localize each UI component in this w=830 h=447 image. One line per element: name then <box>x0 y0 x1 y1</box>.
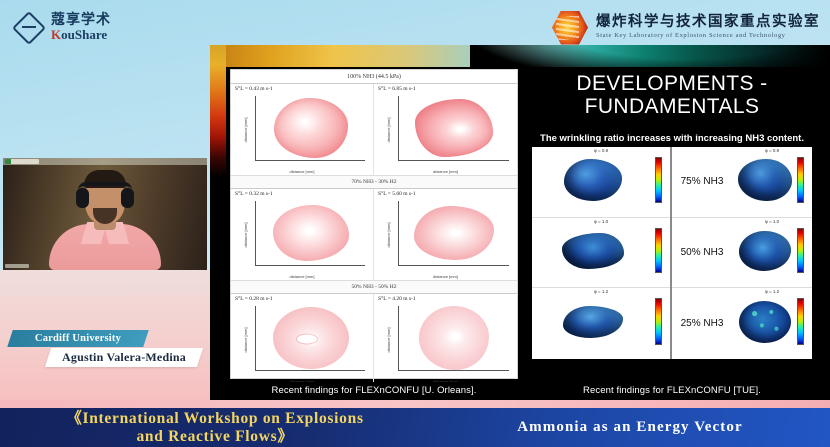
pink-divider-line <box>0 400 830 408</box>
plot-y-label: distance [mm] <box>243 222 248 247</box>
video-status-badge-icon <box>5 264 29 268</box>
explosion-lab-english-name: State Key Laboratory of Explosion Scienc… <box>596 32 820 39</box>
surface-plot: φ = 1.0 <box>732 218 812 288</box>
explosion-lab-brand: 爆炸科学与技术国家重点实验室 State Key Laboratory of E… <box>552 11 820 45</box>
event-title: 《International Workshop on Explosions an… <box>0 410 430 446</box>
left-panel-header: 100% NH3 (44.5 kPa) <box>231 70 517 84</box>
koushare-brand-text: 蔻享学术 KouShare <box>51 13 111 41</box>
presentation-slide[interactable]: 100% NH3 (44.5 kPa) S°L = 0.43 m s-1 dis… <box>210 45 830 400</box>
flame-plot-cell: S°L = 0.43 m s-1 distance [mm] distance … <box>231 84 374 175</box>
presenter-name-card: Cardiff University Agustin Valera-Medina <box>0 270 210 400</box>
grid-cell: φ = 1.0 <box>532 218 670 289</box>
plot-axes <box>746 296 786 347</box>
row-label-50-nh3: 50% NH3 <box>672 247 732 258</box>
plot-y-label: distance [mm] <box>243 117 248 142</box>
plot-axes <box>255 306 365 371</box>
plot-y-label: distance [mm] <box>243 327 248 352</box>
flame-surface-blob <box>415 99 493 157</box>
flame-surface-blob <box>273 205 349 261</box>
left-panel-divider-label: 50% NH3 - 50% H2 <box>231 281 517 294</box>
plot-axes <box>546 155 644 205</box>
surface-plot: φ = 0.9 <box>732 147 812 217</box>
presenter-video-feed[interactable] <box>3 158 207 270</box>
plot-y-label: distance [mm] <box>386 327 391 352</box>
plot-axes <box>398 201 509 266</box>
equivalence-ratio-label: φ = 1.0 <box>732 219 812 224</box>
surface-plot: φ = 1.2 <box>732 288 812 359</box>
left-panel-row: S°L = 0.28 m s-1 distance [mm] distance … <box>231 294 517 386</box>
koushare-english-name: KouShare <box>51 28 111 42</box>
colorbar <box>797 157 804 203</box>
presenter-affiliation-band: Cardiff University <box>7 330 149 347</box>
video-toolbar-badge-icon <box>5 159 39 164</box>
right-results-panel: DEVELOPMENTS - FUNDAMENTALS The wrinklin… <box>524 69 820 379</box>
flame-surface-3d <box>739 231 791 271</box>
plot-x-label: distance [mm] <box>374 169 517 174</box>
flame-plot-cell: S°L = 0.28 m s-1 distance [mm] distance … <box>231 294 374 385</box>
koushare-brand[interactable]: 蔻享学术 KouShare <box>14 13 111 43</box>
presenter-name: Agustin Valera-Medina <box>48 348 200 367</box>
slide-decorative-top-band <box>210 45 830 67</box>
equivalence-ratio-label: φ = 0.9 <box>532 148 670 153</box>
flame-surface-3d <box>564 159 622 201</box>
slide-title-line1: DEVELOPMENTS - <box>524 73 820 96</box>
equivalence-ratio-label: φ = 1.2 <box>732 289 812 294</box>
grid-right-column: 75% NH3 φ = 0.9 50% NH3 φ = 1.0 <box>672 147 812 359</box>
explosion-lab-hexagon-icon <box>552 11 588 45</box>
headphone-right-icon <box>121 188 134 208</box>
plot-axes <box>746 226 786 276</box>
presenter-affiliation: Cardiff University <box>10 330 146 347</box>
equivalence-ratio-label: φ = 1.2 <box>532 289 670 294</box>
grid-cell: φ = 0.9 <box>532 147 670 218</box>
explosion-lab-chinese-name: 爆炸科学与技术国家重点实验室 <box>596 15 820 31</box>
right-panel-caption: Recent findings for FLEXnCONFU [TUE]. <box>524 382 820 399</box>
grid-cell: 25% NH3 φ = 1.2 <box>672 288 812 359</box>
flame-plot-label: S°L = 0.32 m s-1 <box>235 191 273 197</box>
plot-axes <box>255 96 365 161</box>
plot-y-label: distance [mm] <box>386 117 391 142</box>
presenter-panel: Cardiff University Agustin Valera-Medina <box>0 158 210 400</box>
flame-surface-3d <box>563 306 623 338</box>
flame-surface-blob <box>419 306 489 370</box>
plot-x-label: distance [mm] <box>231 274 373 279</box>
flame-surface-3d <box>738 159 792 201</box>
flame-plot-cell: S°L = 6.85 m s-1 distance [mm] distance … <box>374 84 517 175</box>
presenter-figure <box>46 172 164 270</box>
equivalence-ratio-label: φ = 0.9 <box>732 148 812 153</box>
colorbar <box>655 157 662 203</box>
plot-x-label: distance [mm] <box>231 169 373 174</box>
equivalence-ratio-label: φ = 1.0 <box>532 219 670 224</box>
plot-axes <box>546 226 644 276</box>
colorbar <box>797 298 804 345</box>
headphone-left-icon <box>76 188 89 208</box>
flame-plot-label: S°L = 6.85 m s-1 <box>378 86 416 92</box>
grid-cell: 50% NH3 φ = 1.0 <box>672 218 812 289</box>
explosion-lab-brand-text: 爆炸科学与技术国家重点实验室 State Key Laboratory of E… <box>596 15 820 39</box>
plot-axes <box>746 155 786 205</box>
surface-plot: φ = 1.0 <box>532 218 670 288</box>
plot-axes <box>398 96 509 161</box>
slide-title-line2: FUNDAMENTALS <box>524 96 820 119</box>
grid-cell: φ = 1.2 <box>532 288 670 359</box>
plot-axes <box>398 306 509 371</box>
bottom-banner: 《International Workshop on Explosions an… <box>0 408 830 447</box>
plot-x-label: distance [mm] <box>374 274 517 279</box>
left-panel-divider-label: 70% NH3 - 30% H2 <box>231 176 517 189</box>
flame-plot-label: S°L = 4.20 m s-1 <box>378 296 416 302</box>
flame-plot-label: S°L = 5.60 m s-1 <box>378 191 416 197</box>
left-panel-row: S°L = 0.43 m s-1 distance [mm] distance … <box>231 84 517 176</box>
flame-plot-cell: S°L = 0.32 m s-1 distance [mm] distance … <box>231 189 374 280</box>
presenter-name-band: Agustin Valera-Medina <box>45 348 203 367</box>
flame-surface-blob <box>273 307 349 369</box>
flame-plot-label: S°L = 0.28 m s-1 <box>235 296 273 302</box>
row-label-25-nh3: 25% NH3 <box>672 318 732 329</box>
surface-plot: φ = 1.2 <box>532 288 670 359</box>
flame-plot-cell: S°L = 5.60 m s-1 distance [mm] distance … <box>374 189 517 280</box>
koushare-initial: K <box>51 27 61 42</box>
koushare-diamond-icon <box>14 13 44 43</box>
plot-axes <box>546 296 644 347</box>
surface-plot: φ = 0.9 <box>532 147 670 217</box>
flame-plot-label: S°L = 0.43 m s-1 <box>235 86 273 92</box>
left-panel-row: S°L = 0.32 m s-1 distance [mm] distance … <box>231 189 517 281</box>
flame-surface-blob <box>414 206 494 260</box>
left-panel-caption: Recent findings for FLEXnCONFU [U. Orlea… <box>230 382 518 399</box>
row-label-75-nh3: 75% NH3 <box>672 176 732 187</box>
event-title-line1: 《International Workshop on Explosions <box>0 410 430 428</box>
event-title-line2: and Reactive Flows》 <box>0 428 430 446</box>
colorbar <box>655 228 662 274</box>
flame-surface-3d <box>562 233 624 269</box>
left-results-panel: 100% NH3 (44.5 kPa) S°L = 0.43 m s-1 dis… <box>230 69 518 379</box>
flame-surface-blob <box>274 98 348 158</box>
plot-axes <box>255 201 365 266</box>
flame-surface-3d <box>739 301 791 343</box>
plot-y-label: distance [mm] <box>386 222 391 247</box>
colorbar <box>655 298 662 345</box>
slide-decorative-left-band <box>210 45 226 185</box>
flame-plot-cell: S°L = 4.20 m s-1 distance [mm] distance … <box>374 294 517 385</box>
grid-left-column: φ = 0.9 φ = 1.0 <box>532 147 672 359</box>
grid-cell: 75% NH3 φ = 0.9 <box>672 147 812 218</box>
talk-title: Ammonia as an Energy Vector <box>430 419 830 436</box>
koushare-name-rest: ouShare <box>61 27 107 42</box>
nh3-comparison-grid: φ = 0.9 φ = 1.0 <box>532 147 812 359</box>
colorbar <box>797 228 804 274</box>
slide-subtitle: The wrinkling ratio increases with incre… <box>524 133 820 144</box>
slide-title: DEVELOPMENTS - FUNDAMENTALS <box>524 69 820 131</box>
koushare-chinese-name: 蔻享学术 <box>51 13 111 28</box>
